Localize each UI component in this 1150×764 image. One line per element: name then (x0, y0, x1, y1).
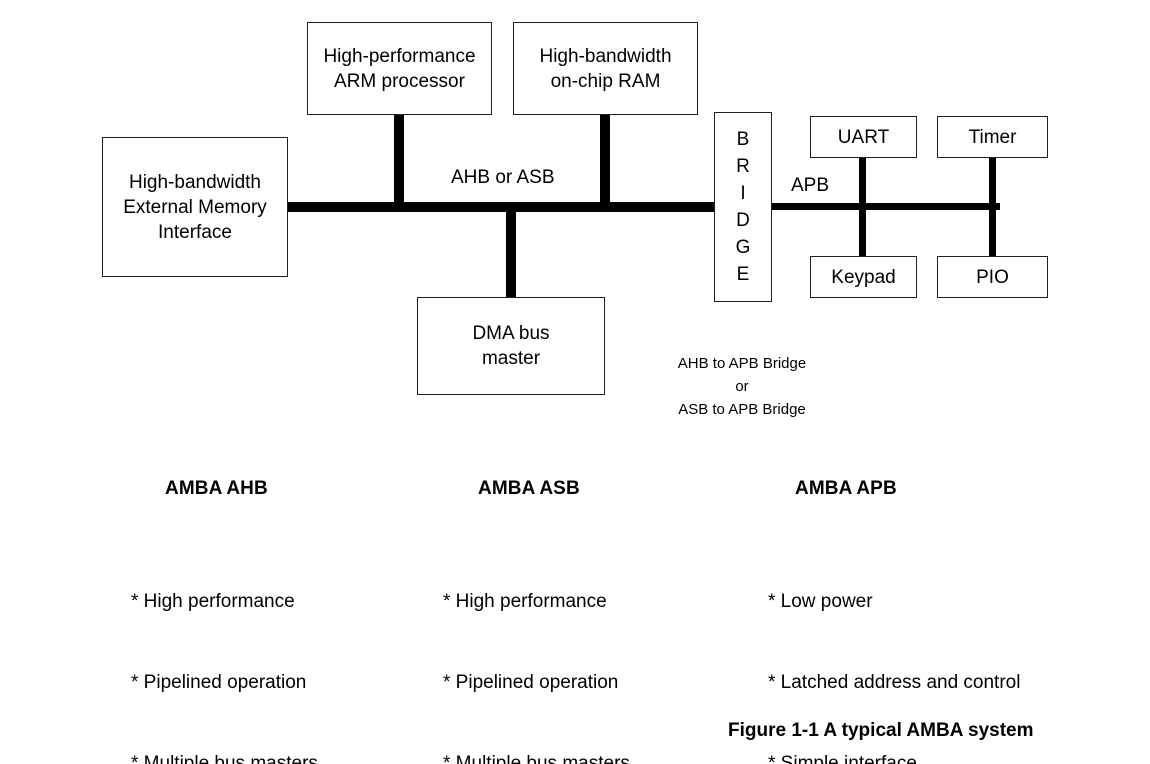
feature-item: * Latched address and control (768, 669, 1028, 696)
block-label: Keypad (831, 265, 895, 290)
bridge-letter: G (736, 234, 751, 261)
feature-list: * High performance * Pipelined operation… (131, 534, 318, 764)
figure-caption: Figure 1-1 A typical AMBA system (728, 720, 1033, 742)
dma-bus-stub (506, 205, 516, 298)
block-arm-processor[interactable]: High-performance ARM processor (307, 22, 492, 115)
bridge-letter: E (737, 261, 750, 288)
label-ahb-or-asb: AHB or ASB (447, 167, 559, 189)
pio-apb-stub (989, 206, 996, 257)
timer-apb-stub (989, 157, 996, 207)
block-label: Timer (969, 125, 1017, 150)
feature-item: * High performance (443, 588, 630, 615)
block-uart[interactable]: UART (810, 116, 917, 158)
bridge-letter: D (736, 207, 750, 234)
keypad-apb-stub (859, 206, 866, 257)
arm-bus-stub (394, 113, 404, 209)
uart-apb-stub (859, 157, 866, 207)
ahb-asb-bus-line (286, 202, 716, 212)
label-apb: APB (787, 175, 833, 197)
bridge-caption: AHB to APB Bridge or ASB to APB Bridge (642, 352, 842, 421)
amba-system-figure: High-bandwidth External Memory Interface… (0, 0, 1150, 764)
block-label: PIO (976, 265, 1009, 290)
feature-item: * Multiple bus masters (131, 750, 318, 764)
feature-item: * Low power (768, 588, 1028, 615)
block-on-chip-ram[interactable]: High-bandwidth on-chip RAM (513, 22, 698, 115)
feature-item: * Pipelined operation (443, 669, 630, 696)
feature-item: * Pipelined operation (131, 669, 318, 696)
block-dma-bus-master[interactable]: DMA bus master (417, 297, 605, 395)
feature-list: * High performance * Pipelined operation… (443, 534, 630, 764)
feature-item: * High performance (131, 588, 318, 615)
feature-item: * Simple interface (768, 750, 1028, 764)
block-label: UART (838, 125, 889, 150)
block-keypad[interactable]: Keypad (810, 256, 917, 298)
bridge-letters: B R I D G E (714, 112, 772, 302)
feature-item: * Multiple bus masters (443, 750, 630, 764)
feature-title: AMBA AHB (165, 478, 268, 500)
bridge-letter: B (737, 126, 750, 153)
block-label: DMA bus master (472, 321, 549, 371)
block-label: High-bandwidth External Memory Interface (123, 170, 267, 245)
bridge-letter: R (736, 153, 750, 180)
bridge-letter: I (740, 180, 745, 207)
feature-title: AMBA ASB (478, 478, 580, 500)
block-label: High-performance ARM processor (323, 44, 475, 94)
apb-bus-line (770, 203, 1000, 210)
block-external-memory-interface[interactable]: High-bandwidth External Memory Interface (102, 137, 288, 277)
feature-title: AMBA APB (795, 478, 897, 500)
ram-bus-stub (600, 113, 610, 209)
block-pio[interactable]: PIO (937, 256, 1048, 298)
block-label: High-bandwidth on-chip RAM (539, 44, 671, 94)
block-timer[interactable]: Timer (937, 116, 1048, 158)
